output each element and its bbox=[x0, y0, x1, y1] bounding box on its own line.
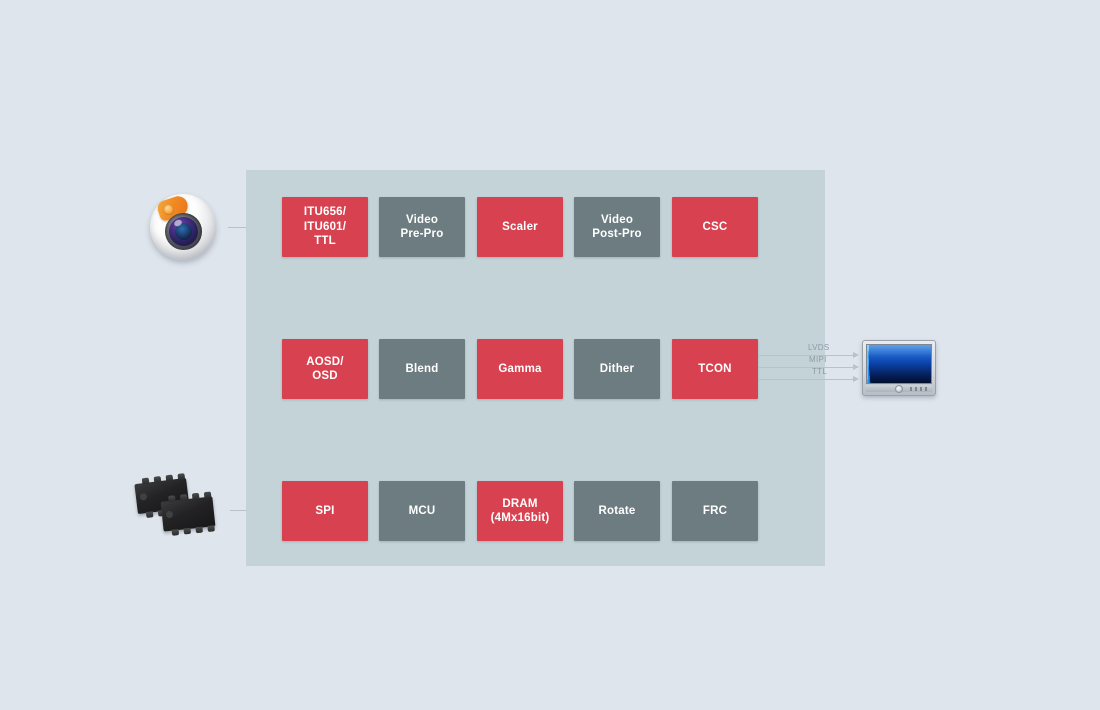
flash-chip-2 bbox=[161, 496, 216, 531]
block-video-pre-pro[interactable]: Video Pre-Pro bbox=[379, 197, 465, 257]
output-arrow-head-ttl bbox=[853, 376, 859, 382]
chip-pin bbox=[204, 491, 212, 498]
chip-pin bbox=[192, 493, 200, 500]
block-label: Rotate bbox=[596, 504, 639, 518]
block-dither[interactable]: Dither bbox=[574, 339, 660, 399]
soc-block-panel: ITU656/ ITU601/ TTL Video Pre-Pro Scaler… bbox=[246, 170, 825, 566]
chip-pin bbox=[166, 475, 174, 482]
spi-flash-chips-icon bbox=[134, 475, 234, 545]
camera-flash-dot bbox=[163, 204, 174, 215]
block-frc[interactable]: FRC bbox=[672, 481, 758, 541]
lcd-display-icon bbox=[862, 340, 936, 396]
output-arrow-line-mipi bbox=[758, 367, 854, 368]
block-aosd-osd[interactable]: AOSD/ OSD bbox=[282, 339, 368, 399]
output-arrow-head-mipi bbox=[853, 364, 859, 370]
output-label-mipi: MIPI bbox=[809, 355, 827, 364]
block-itu656-itu601-ttl[interactable]: ITU656/ ITU601/ TTL bbox=[282, 197, 368, 257]
block-label: Video Pre-Pro bbox=[398, 213, 447, 242]
block-rotate[interactable]: Rotate bbox=[574, 481, 660, 541]
monitor-indicator-leds bbox=[910, 387, 930, 391]
chip-pin bbox=[154, 476, 162, 483]
block-label: Gamma bbox=[495, 362, 544, 376]
block-label: FRC bbox=[700, 504, 730, 518]
chip-notch bbox=[166, 511, 174, 519]
block-label: TCON bbox=[695, 362, 734, 376]
block-label: AOSD/ OSD bbox=[303, 355, 346, 384]
chip-pin bbox=[177, 473, 185, 480]
block-csc[interactable]: CSC bbox=[672, 197, 758, 257]
chip-notch bbox=[140, 493, 148, 501]
block-label: CSC bbox=[700, 220, 731, 234]
block-label: Blend bbox=[403, 362, 442, 376]
chip-pin bbox=[168, 495, 176, 502]
output-label-lvds: LVDS bbox=[808, 343, 830, 352]
output-label-ttl: TTL bbox=[812, 367, 827, 376]
block-gamma[interactable]: Gamma bbox=[477, 339, 563, 399]
chip-pin bbox=[172, 529, 180, 536]
block-tcon[interactable]: TCON bbox=[672, 339, 758, 399]
block-label: Scaler bbox=[499, 220, 541, 234]
chip-pin bbox=[180, 494, 188, 501]
block-label: Dither bbox=[597, 362, 637, 376]
chip-pin bbox=[142, 477, 150, 484]
block-scaler[interactable]: Scaler bbox=[477, 197, 563, 257]
block-label: DRAM (4Mx16bit) bbox=[488, 497, 553, 526]
chip-pin bbox=[146, 511, 154, 518]
block-label: SPI bbox=[312, 504, 337, 518]
output-arrow-line-lvds bbox=[758, 355, 854, 356]
block-blend[interactable]: Blend bbox=[379, 339, 465, 399]
block-label: MCU bbox=[406, 504, 439, 518]
output-arrow-line-ttl bbox=[758, 379, 854, 380]
block-label: Video Post-Pro bbox=[589, 213, 645, 242]
camera-icon bbox=[150, 194, 216, 260]
output-arrow-head-lvds bbox=[853, 352, 859, 358]
monitor-screen bbox=[866, 344, 932, 384]
block-spi[interactable]: SPI bbox=[282, 481, 368, 541]
monitor-power-button-icon[interactable] bbox=[895, 385, 903, 393]
block-label: ITU656/ ITU601/ TTL bbox=[301, 205, 349, 248]
monitor-screen-shine bbox=[867, 345, 931, 362]
chip-pin bbox=[183, 528, 191, 535]
block-dram[interactable]: DRAM (4Mx16bit) bbox=[477, 481, 563, 541]
block-video-post-pro[interactable]: Video Post-Pro bbox=[574, 197, 660, 257]
block-mcu[interactable]: MCU bbox=[379, 481, 465, 541]
chip-pin bbox=[207, 525, 215, 532]
chip-pin bbox=[195, 527, 203, 534]
